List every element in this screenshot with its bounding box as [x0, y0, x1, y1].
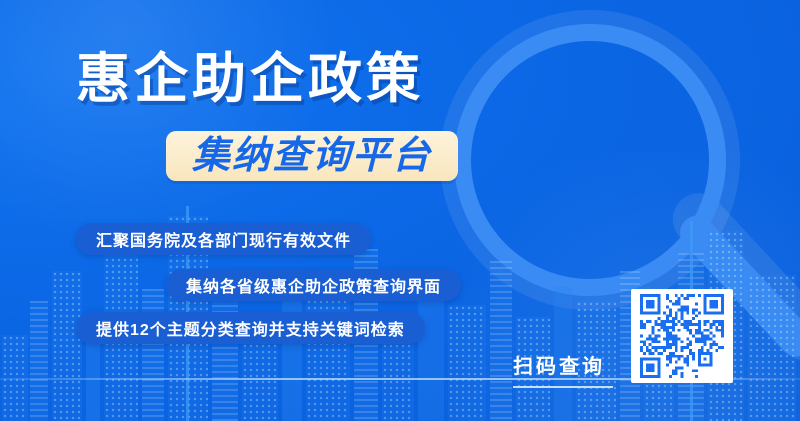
feature-pill-3: 提供12个主题分类查询并支持关键词检索: [76, 312, 425, 344]
main-title: 惠企助企政策: [76, 52, 424, 106]
scan-label: 扫码查询: [513, 350, 613, 379]
scan-underline: [513, 386, 613, 388]
scan-block: 扫码查询: [513, 350, 613, 388]
promo-banner: 惠企助企政策 集纳查询平台 汇聚国务院及各部门现行有效文件 集纳各省级惠企助企政…: [0, 0, 800, 421]
banner-content: 惠企助企政策 集纳查询平台 汇聚国务院及各部门现行有效文件 集纳各省级惠企助企政…: [0, 0, 800, 421]
qr-code[interactable]: [631, 289, 733, 383]
feature-pill-2: 集纳各省级惠企助企政策查询界面: [166, 269, 461, 301]
qr-code-image: [636, 294, 728, 378]
feature-pill-1: 汇聚国务院及各部门现行有效文件: [76, 223, 371, 255]
sub-title: 集纳查询平台: [192, 137, 432, 175]
subtitle-banner: 集纳查询平台: [166, 131, 458, 181]
